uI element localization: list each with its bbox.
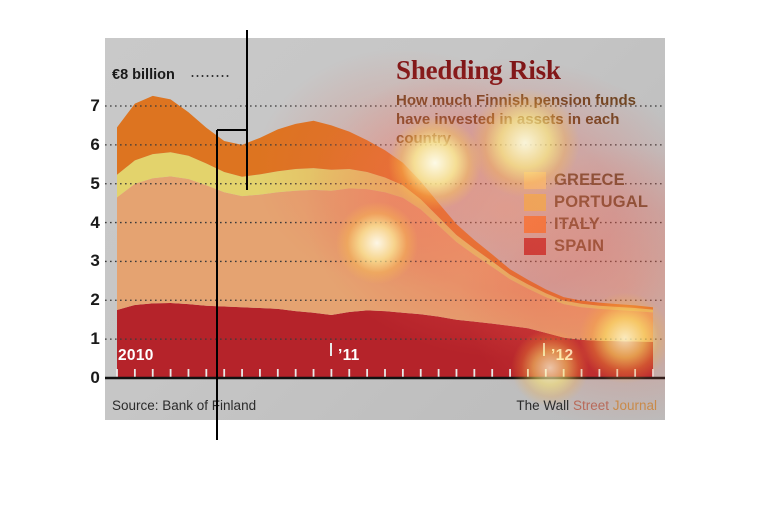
legend-swatch-portugal [524, 194, 546, 211]
y-axis-label-4: 4 [90, 213, 100, 233]
credit-part-3: Journal [609, 398, 657, 413]
page-title: Shedding Risk [396, 57, 658, 84]
y-axis-label-5: 5 [90, 174, 100, 194]
legend-swatch-spain [524, 238, 546, 255]
y-axis-label-0: 0 [90, 368, 100, 388]
legend-item-italy: ITALY [524, 214, 648, 235]
y-axis-label-1: 1 [90, 329, 100, 349]
chart-screenshot: 2010 ’11 ’12 Shedding Risk How much Finn… [0, 0, 770, 528]
publisher-credit: The Wall Street Journal [516, 398, 657, 413]
credit-part-2: Street [569, 398, 609, 413]
y-axis-label-7: 7 [90, 96, 100, 116]
y-axis-labels: 76543210 [0, 38, 100, 420]
y-axis-unit-label: €8 billion [112, 67, 175, 83]
y-axis-label-2: 2 [90, 290, 100, 310]
y-axis-label-3: 3 [90, 251, 100, 271]
title-block: Shedding Risk How much Finnish pension f… [396, 57, 658, 148]
legend: GREECE PORTUGAL ITALY SPAIN [524, 170, 648, 258]
legend-swatch-italy [524, 216, 546, 233]
credit-part-1: The Wall [516, 398, 569, 413]
legend-label-portugal: PORTUGAL [554, 193, 648, 212]
x-label-2012: ’12 [551, 347, 573, 365]
legend-item-spain: SPAIN [524, 236, 648, 257]
x-label-2010: 2010 [118, 347, 154, 365]
chart-panel: 2010 ’11 ’12 Shedding Risk How much Finn… [105, 38, 665, 420]
year-tick-2011 [330, 343, 332, 356]
legend-item-greece: GREECE [524, 170, 648, 191]
page-subtitle: How much Finnish pension funds have inve… [396, 91, 636, 148]
legend-swatch-greece [524, 172, 546, 189]
y-axis-label-6: 6 [90, 135, 100, 155]
legend-label-spain: SPAIN [554, 237, 604, 256]
source-note: Source: Bank of Finland [112, 398, 256, 413]
year-tick-2012 [543, 343, 545, 356]
legend-label-italy: ITALY [554, 215, 600, 234]
x-label-2011: ’11 [338, 347, 360, 365]
legend-label-greece: GREECE [554, 171, 625, 190]
legend-item-portugal: PORTUGAL [524, 192, 648, 213]
y-axis-unit-leader-dots [190, 75, 230, 77]
